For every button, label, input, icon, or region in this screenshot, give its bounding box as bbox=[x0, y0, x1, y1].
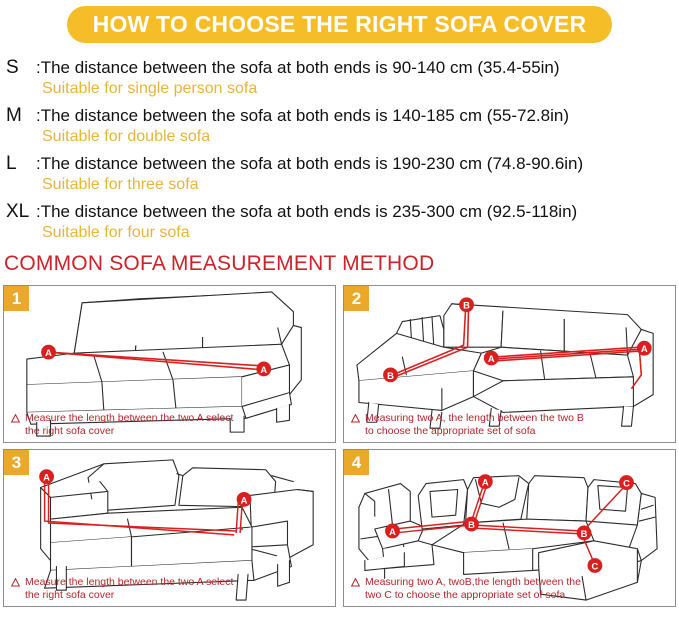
svg-text:B: B bbox=[463, 301, 470, 311]
marker-b-top: B bbox=[459, 297, 474, 312]
caption-line-2: the right sofa cover bbox=[25, 425, 233, 438]
marker-b-bottom: B bbox=[383, 367, 398, 382]
size-description: :The distance between the sofa at both e… bbox=[36, 58, 560, 78]
warning-triangle-icon bbox=[351, 578, 360, 587]
panel-caption: Measuring two A, the length between the … bbox=[351, 412, 584, 438]
svg-text:A: A bbox=[482, 478, 489, 488]
marker-a-right: A bbox=[637, 341, 652, 356]
size-guide-list: S :The distance between the sofa at both… bbox=[0, 57, 679, 242]
marker-b-left: B bbox=[464, 517, 479, 532]
svg-text:A: A bbox=[389, 527, 396, 537]
measurement-panel-grid: 1 bbox=[0, 285, 679, 607]
caption-line-2: two C to choose the appropriate set of s… bbox=[365, 589, 581, 602]
caption-line-1: Measure the length between the two A sel… bbox=[25, 412, 233, 425]
marker-a-left: A bbox=[385, 524, 400, 539]
svg-text:C: C bbox=[623, 479, 630, 489]
size-description: :The distance between the sofa at both e… bbox=[36, 202, 577, 222]
panel-caption: Measuring two A, twoB,the length between… bbox=[351, 576, 581, 602]
measurement-panel-1: 1 bbox=[3, 285, 336, 443]
size-code: XL bbox=[6, 201, 36, 223]
size-suitable-note: Suitable for double sofa bbox=[42, 128, 679, 146]
panel-caption: Measure the length between the two A sel… bbox=[11, 412, 233, 438]
size-row-l: L :The distance between the sofa at both… bbox=[6, 153, 679, 194]
panel-caption: Measure the length between the two A sel… bbox=[11, 576, 233, 602]
panel-number-badge: 1 bbox=[4, 286, 29, 311]
size-code: L bbox=[6, 153, 36, 175]
size-description: :The distance between the sofa at both e… bbox=[36, 106, 569, 126]
marker-a-left: A bbox=[41, 345, 56, 360]
svg-text:B: B bbox=[387, 371, 394, 381]
marker-a-left: A bbox=[484, 351, 499, 366]
measurement-panel-3: 3 bbox=[3, 449, 336, 607]
measurement-panel-4: 4 bbox=[343, 449, 676, 607]
size-row-s: S :The distance between the sofa at both… bbox=[6, 57, 679, 98]
svg-text:A: A bbox=[488, 354, 495, 364]
marker-c-top: C bbox=[619, 475, 634, 490]
caption-line-1: Measuring two A, the length between the … bbox=[365, 412, 584, 425]
panel-number-badge: 4 bbox=[344, 450, 369, 475]
svg-text:A: A bbox=[241, 495, 248, 505]
size-suitable-note: Suitable for three sofa bbox=[42, 176, 679, 194]
size-code: S bbox=[6, 57, 36, 79]
svg-text:A: A bbox=[45, 348, 52, 358]
size-suitable-note: Suitable for single person sofa bbox=[42, 80, 679, 98]
caption-line-1: Measuring two A, twoB,the length between… bbox=[365, 576, 581, 589]
svg-text:A: A bbox=[43, 473, 50, 483]
warning-triangle-icon bbox=[11, 578, 20, 587]
size-code: M bbox=[6, 105, 36, 127]
size-suitable-note: Suitable for four sofa bbox=[42, 224, 679, 242]
marker-b-right: B bbox=[577, 526, 592, 541]
section-heading: COMMON SOFA MEASUREMENT METHOD bbox=[4, 252, 679, 276]
svg-text:A: A bbox=[641, 344, 648, 354]
page-title: HOW TO CHOOSE THE RIGHT SOFA COVER bbox=[67, 6, 613, 43]
panel-number-badge: 2 bbox=[344, 286, 369, 311]
marker-a-top: A bbox=[478, 474, 493, 489]
size-row-xl: XL :The distance between the sofa at bot… bbox=[6, 201, 679, 242]
panel-number-badge: 3 bbox=[4, 450, 29, 475]
header: HOW TO CHOOSE THE RIGHT SOFA COVER bbox=[0, 0, 679, 43]
size-description: :The distance between the sofa at both e… bbox=[36, 154, 583, 174]
marker-a-right: A bbox=[256, 362, 271, 377]
svg-text:A: A bbox=[260, 365, 267, 375]
caption-line-2: the right sofa cover bbox=[25, 589, 233, 602]
warning-triangle-icon bbox=[11, 414, 20, 423]
size-row-m: M :The distance between the sofa at both… bbox=[6, 105, 679, 146]
caption-line-1: Measure the length between the two A sel… bbox=[25, 576, 233, 589]
marker-a-left: A bbox=[39, 469, 54, 484]
svg-text:B: B bbox=[581, 529, 588, 539]
caption-line-2: to choose the appropriate set of sofa bbox=[365, 425, 584, 438]
svg-text:B: B bbox=[468, 520, 475, 530]
warning-triangle-icon bbox=[351, 414, 360, 423]
marker-a-right: A bbox=[237, 492, 252, 507]
marker-c-bottom: C bbox=[588, 558, 603, 573]
measurement-panel-2: 2 bbox=[343, 285, 676, 443]
svg-text:C: C bbox=[592, 561, 599, 571]
